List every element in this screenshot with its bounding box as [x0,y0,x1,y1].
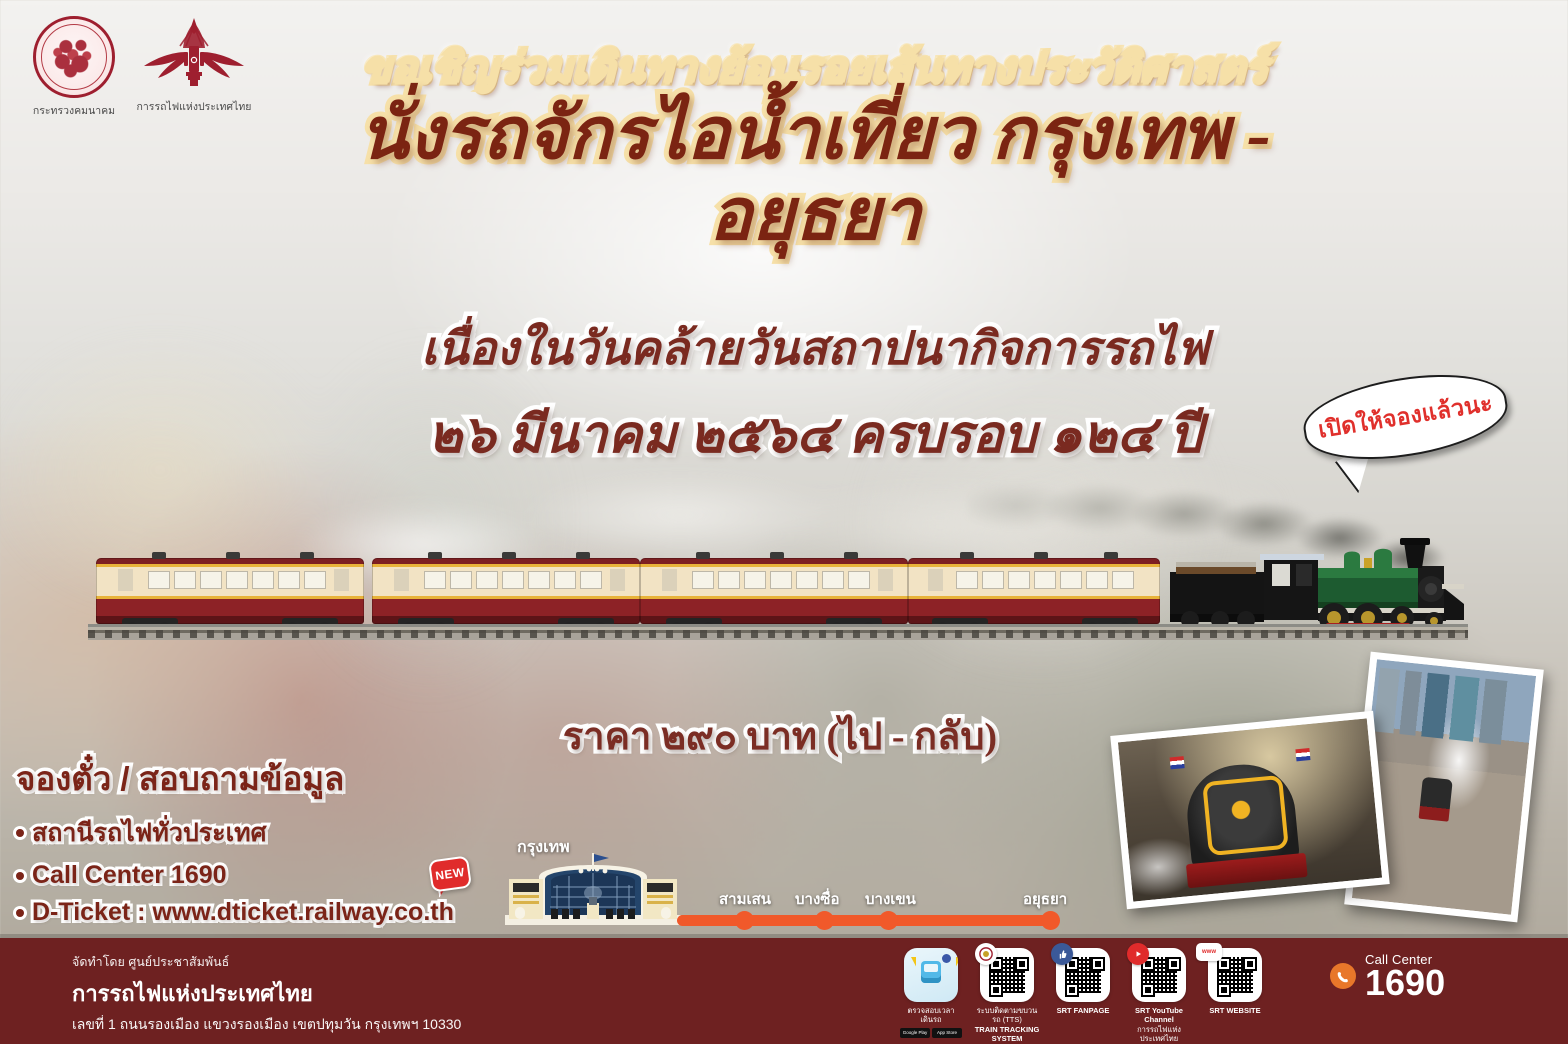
qr-caption: ระบบติดตามขบวนรถ (TTS) TRAIN TRACKING SY… [974,1006,1040,1044]
booking-section-title: จองตั๋ว / สอบถามข้อมูล [16,752,486,805]
youtube-play-icon [1127,943,1149,965]
ministry-of-transport-label: กระทรวงคมนาคม [28,102,120,119]
qr-caption-en: SRT YouTube Channel [1126,1006,1192,1025]
call-center-block[interactable]: Call Center 1690 [1330,952,1445,1001]
route-stop-label: บางซื่อ [795,887,839,911]
ministry-of-transport-seal-icon [33,16,115,98]
poster-root: กระทรวงคมนาคม [0,0,1568,1044]
headline-block: ขอเชิญร่วมเดินทางย้อนรอยเส้นทางประวัติศา… [255,46,1375,255]
headline-line-1: ขอเชิญร่วมเดินทางย้อนรอยเส้นทางประวัติศา… [255,46,1375,92]
footer-organization: การรถไฟแห่งประเทศไทย [72,976,461,1011]
booking-channel-label: Call Center 1690 [32,861,227,890]
qr-caption-en: TRAIN TRACKING SYSTEM [974,1025,1040,1044]
train-app-icon [904,948,958,1002]
footer-qr-row: ตรวจสอบเวลาเดินรถ Google Play App Store … [898,948,1268,1044]
phone-icon [1330,963,1356,989]
qr-caption: SRT WEBSITE [1202,1006,1268,1015]
srt-logo: การรถไฟแห่งประเทศไทย [130,16,258,115]
footer-made-by: จัดทำโดย ศูนย์ประชาสัมพันธ์ [72,952,461,972]
qr-code[interactable] [1132,948,1186,1002]
logo-bar: กระทรวงคมนาคม [18,16,268,126]
route-stop-marker [735,911,754,930]
booking-channel-stations: สถานีรถไฟทั่วประเทศ [16,813,486,853]
route-destination-marker [1041,911,1060,930]
callout-text: เปิดให้จองแล้วนะ [1316,385,1496,448]
ticket-price-text: ราคา ๒๙๐ บาท (ไป - กลับ) [440,705,1120,766]
new-badge: NEW [428,855,472,892]
route-stop-label: บางเขน [865,887,916,911]
route-map: กรุงเทพ [495,835,1095,940]
bullet-icon [16,872,24,880]
train-illustration [88,520,1468,650]
new-badge-label: NEW [434,865,465,883]
app-store-label: App Store [937,1030,957,1035]
qr-item-train-app[interactable]: ตรวจสอบเวลาเดินรถ Google Play App Store [898,948,964,1038]
qr-caption-en: SRT FANPAGE [1050,1006,1116,1015]
srt-garuda-emblem-icon [140,16,248,94]
qr-item-fanpage[interactable]: SRT FANPAGE [1050,948,1116,1015]
qr-caption: SRT YouTube Channel การรถไฟแห่งประเทศไทย… [1126,1006,1192,1044]
app-store-badge[interactable]: App Store [932,1028,962,1038]
website-www-icon: www [1196,943,1222,961]
qr-item-train-tracking[interactable]: ระบบติดตามขบวนรถ (TTS) TRAIN TRACKING SY… [974,948,1040,1044]
qr-caption-th: การรถไฟแห่งประเทศไทย OFFICIAL [1137,1025,1181,1044]
footer-address: เลขที่ 1 ถนนรองเมือง แขวงรองเมือง เขตปทุ… [72,1014,461,1036]
facebook-thumb-icon [1051,943,1073,965]
passenger-coach [640,558,908,624]
qr-caption-th: ระบบติดตามขบวนรถ (TTS) [977,1006,1038,1024]
qr-caption-en: SRT WEBSITE [1202,1006,1268,1015]
bullet-icon [16,829,24,837]
qr-item-youtube[interactable]: SRT YouTube Channel การรถไฟแห่งประเทศไทย… [1126,948,1192,1044]
qr-caption: ตรวจสอบเวลาเดินรถ [898,1006,964,1025]
passenger-coach [96,558,364,624]
booking-channel-call-center[interactable]: Call Center 1690 [16,861,486,890]
bullet-icon [16,909,24,917]
qr-code[interactable] [1056,948,1110,1002]
route-destination-label: อยุธยา [1023,887,1067,911]
subtitle-line-1: เนื่องในวันคล้ายวันสถาปนากิจการรถไฟ [255,312,1375,385]
srt-seal-icon [975,943,997,965]
ministry-of-transport-logo: กระทรวงคมนาคม [28,16,120,119]
srt-label: การรถไฟแห่งประเทศไทย [130,98,258,115]
booking-channel-label: D-Ticket : www.dticket.railway.co.th [32,898,454,927]
booking-info-block: จองตั๋ว / สอบถามข้อมูล สถานีรถไฟทั่วประเ… [16,752,486,927]
hua-lamphong-station-icon [503,853,683,927]
google-play-label: Google Play [903,1030,928,1035]
google-play-badge[interactable]: Google Play [900,1028,930,1038]
qr-caption: SRT FANPAGE [1050,1006,1116,1015]
qr-item-website[interactable]: www SRT WEBSITE [1202,948,1268,1015]
route-stop-marker [879,911,898,930]
call-center-number: 1690 [1365,966,1445,1001]
headline-line-2: นั่งรถจักรไอน้ำเที่ยว กรุงเทพ - อยุธยา [255,94,1375,255]
footer-text-block: จัดทำโดย ศูนย์ประชาสัมพันธ์ การรถไฟแห่งป… [72,952,461,1036]
passenger-coach [372,558,640,624]
passenger-coach [908,558,1160,624]
subtitle-line-2: ๒๖ มีนาคม ๒๕๖๔ ครบรอบ ๑๒๔ ปี [255,392,1375,475]
route-stop-label: สามเสน [719,887,771,911]
qr-code[interactable]: www [1208,948,1262,1002]
booking-channel-dticket[interactable]: D-Ticket : www.dticket.railway.co.th [16,898,486,927]
railway-sleepers [88,630,1468,638]
booking-channel-label: สถานีรถไฟทั่วประเทศ [32,813,267,853]
qr-code[interactable] [980,948,1034,1002]
route-stop-marker [815,911,834,930]
steam-locomotive-front-photo [1110,711,1389,910]
